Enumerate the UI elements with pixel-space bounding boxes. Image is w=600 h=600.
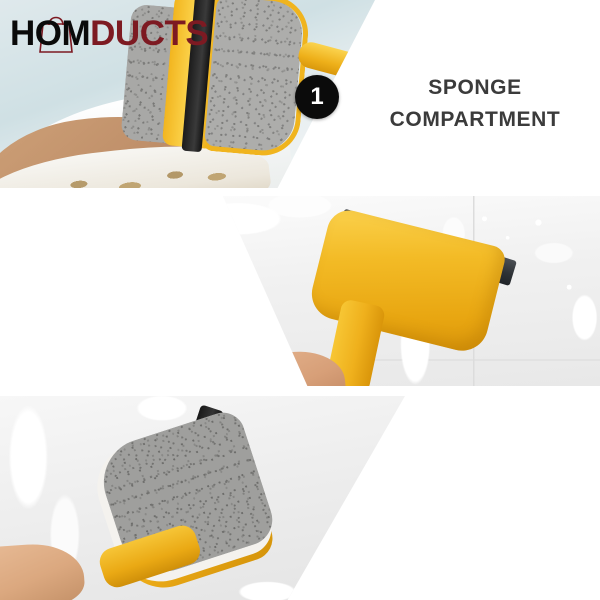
- step-badge-1: 1: [295, 75, 339, 119]
- sponge-side-tool: [55, 396, 382, 600]
- product-infographic: 1 SPONGE COMPARTMENT 2 CONVENIENT AND QU…: [0, 0, 600, 600]
- panel-1-caption: SPONGE COMPARTMENT: [360, 72, 590, 135]
- panel-2-photo: [215, 196, 600, 386]
- soapy-tile-wall-scene: [215, 196, 600, 386]
- feature-panel-2: 2 CONVENIENT AND QUICK: [0, 196, 600, 386]
- brand-logo: HOM DUCTS: [10, 16, 208, 51]
- feature-panel-3: 3 PRACTICAL AND DURABLE: [0, 396, 600, 600]
- logo-text-secondary: DUCTS: [90, 16, 208, 51]
- yellow-rim: [200, 0, 312, 159]
- wet-glass-scene: [0, 396, 405, 600]
- logo-text-primary: HOM: [10, 16, 90, 51]
- squeegee-tool: [299, 204, 539, 386]
- panel-3-photo: [0, 396, 405, 600]
